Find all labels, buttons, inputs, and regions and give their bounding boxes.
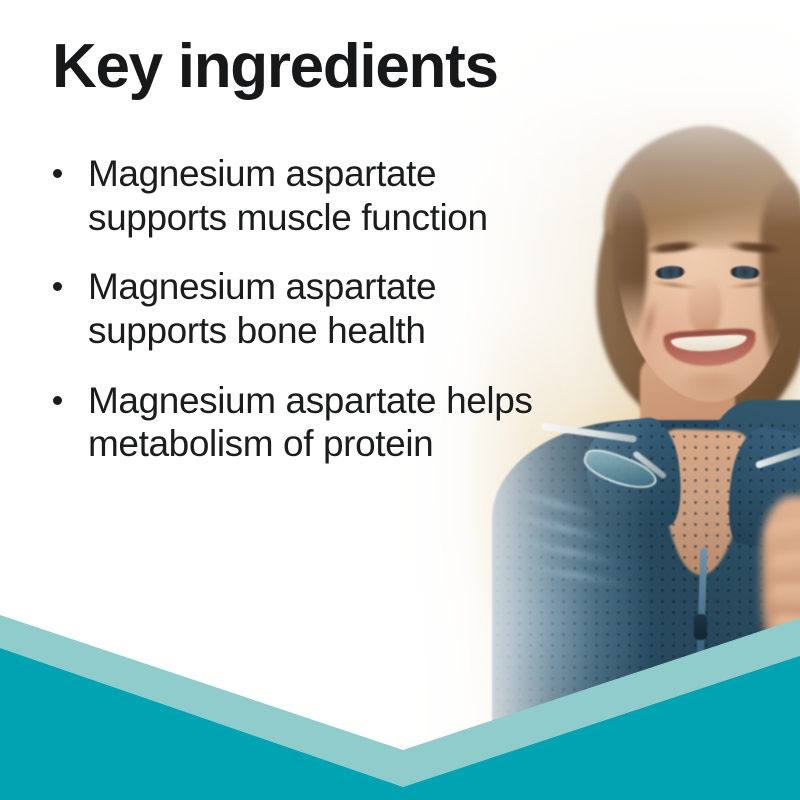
list-item-label: Magnesium aspartate supports muscle func… <box>88 153 488 238</box>
product-info-card: Key ingredients Magnesium aspartate supp… <box>0 0 800 800</box>
list-item-label: Magnesium aspartate supports bone health <box>88 266 436 351</box>
list-item: Magnesium aspartate supports muscle func… <box>44 152 544 239</box>
list-item-label: Magnesium aspartate helps metabolism of … <box>88 380 533 465</box>
bullet-dot-icon <box>53 169 62 178</box>
bullet-dot-icon <box>53 396 62 405</box>
text-content: Key ingredients Magnesium aspartate supp… <box>0 0 800 800</box>
key-ingredients-list: Magnesium aspartate supports muscle func… <box>44 152 544 492</box>
bullet-dot-icon <box>53 282 62 291</box>
list-item: Magnesium aspartate supports bone health <box>44 265 544 352</box>
list-item: Magnesium aspartate helps metabolism of … <box>44 379 544 466</box>
page-title: Key ingredients <box>52 34 498 101</box>
